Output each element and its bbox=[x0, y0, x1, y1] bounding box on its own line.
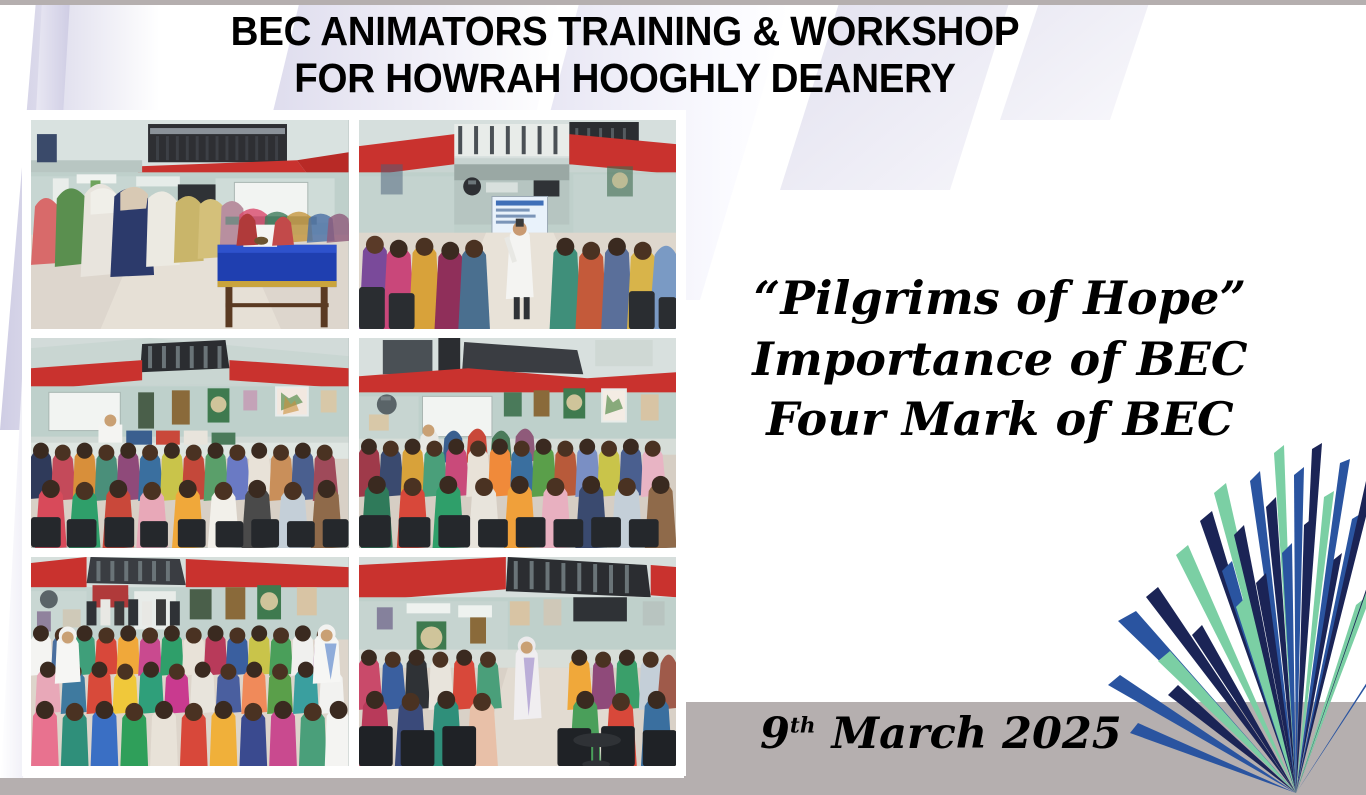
title-line-1: BEC ANIMATORS TRAINING & WORKSHOP bbox=[38, 8, 1213, 55]
collage-photo-2 bbox=[359, 120, 677, 329]
theme-line-2: Importance of BEC bbox=[700, 329, 1300, 390]
date-ordinal: th bbox=[790, 714, 816, 739]
bottom-grey-strip bbox=[0, 778, 1366, 795]
collage-photo-5 bbox=[31, 557, 349, 766]
theme-line-3: Four Mark of BEC bbox=[700, 389, 1300, 450]
top-grey-rule bbox=[0, 0, 1366, 5]
page-title: BEC ANIMATORS TRAINING & WORKSHOP FOR HO… bbox=[38, 8, 1213, 101]
title-line-2: FOR HOWRAH HOOGHLY DEANERY bbox=[38, 55, 1213, 102]
slide-canvas: BEC ANIMATORS TRAINING & WORKSHOP FOR HO… bbox=[0, 0, 1366, 795]
collage-photo-1 bbox=[31, 120, 349, 329]
date-day: 9 bbox=[760, 709, 790, 759]
event-date: 9thMarch 2025 bbox=[760, 713, 1180, 756]
date-month-year: March 2025 bbox=[832, 709, 1122, 759]
theme-text-block: “Pilgrims of Hope” Importance of BEC Fou… bbox=[700, 268, 1300, 450]
photo-collage-card bbox=[22, 110, 686, 776]
collage-photo-3 bbox=[31, 338, 349, 547]
collage-photo-6 bbox=[359, 557, 677, 766]
collage-photo-4 bbox=[359, 338, 677, 547]
theme-line-1: “Pilgrims of Hope” bbox=[700, 268, 1300, 329]
photo-grid bbox=[31, 120, 676, 766]
